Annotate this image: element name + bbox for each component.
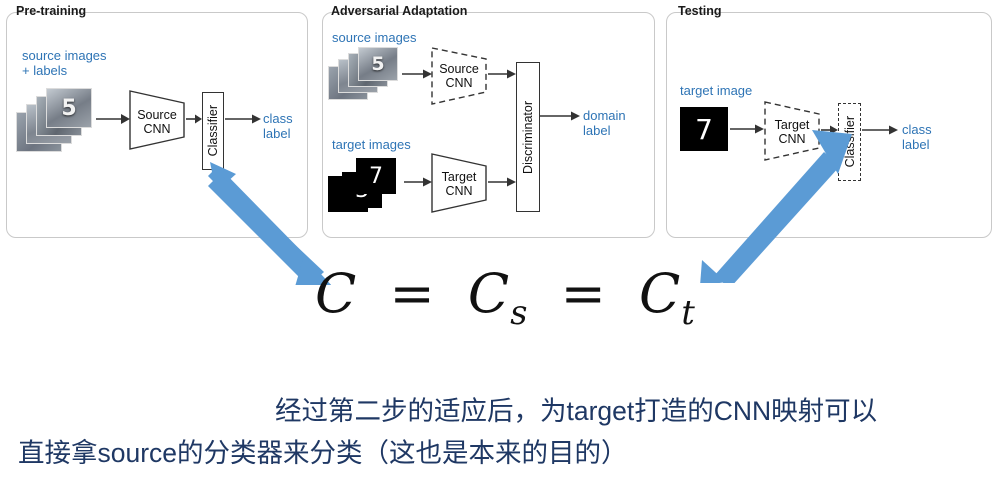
formula-ct: Ct bbox=[639, 262, 696, 325]
formula-cs: Cs bbox=[468, 262, 529, 325]
arrow-source-cnn-to-discriminator bbox=[488, 68, 516, 80]
arrow-target-images-to-target-cnn bbox=[404, 176, 432, 188]
source-image-tile: 5 bbox=[46, 88, 92, 128]
target-images-label: target images bbox=[332, 137, 411, 152]
target-image-stack: 1 3 7 bbox=[328, 158, 408, 216]
classifier-box-label: Classifier bbox=[206, 105, 220, 156]
source-images-label: source images bbox=[332, 30, 417, 45]
source-cnn-label: SourceCNN bbox=[130, 108, 184, 136]
discriminator-box: Discriminator bbox=[516, 62, 540, 212]
class-label-label: classlabel bbox=[263, 111, 293, 141]
arrow-images-to-source-cnn bbox=[96, 112, 130, 126]
formula-c-equals-cs-equals-ct: C = Cs = Ct bbox=[315, 262, 696, 332]
target-image-label: target image bbox=[680, 83, 752, 98]
caption-line-1: 经过第二步的适应后，为target打造的CNN映射可以 bbox=[275, 392, 877, 430]
source-image-tile: 5 bbox=[358, 47, 398, 81]
panel-title-pre-training: Pre-training bbox=[16, 4, 86, 18]
target-image-tile: 7 bbox=[356, 158, 396, 194]
blue-arrow-to-pretraining-classifier bbox=[196, 160, 331, 285]
arrow-discriminator-to-domain-label bbox=[540, 110, 580, 122]
arrow-classifier-to-class-label bbox=[225, 113, 261, 125]
formula-equals-1: = bbox=[376, 262, 450, 325]
source-cnn-label: SourceCNN bbox=[432, 62, 486, 90]
source-image-stack: 5 3 7 5 bbox=[14, 88, 96, 160]
source-image-stack: 5 3 7 5 bbox=[328, 50, 404, 106]
source-images-labels-label: source images+ labels bbox=[22, 48, 107, 78]
target-cnn-label: TargetCNN bbox=[432, 170, 486, 198]
panel-title-adversarial-adaptation: Adversarial Adaptation bbox=[331, 4, 467, 18]
blue-arrow-to-testing-classifier bbox=[700, 118, 860, 283]
panel-title-testing: Testing bbox=[678, 4, 722, 18]
discriminator-box-label: Discriminator bbox=[521, 101, 535, 174]
arrow-source-images-to-source-cnn bbox=[402, 68, 432, 80]
arrow-target-cnn-to-discriminator bbox=[488, 176, 516, 188]
class-label-label: classlabel bbox=[902, 122, 932, 152]
caption-line-2: 直接拿source的分类器来分类（这也是本来的目的） bbox=[18, 434, 628, 472]
arrow-source-cnn-to-classifier bbox=[186, 113, 202, 125]
classifier-box: Classifier bbox=[202, 92, 224, 170]
formula-c: C bbox=[315, 262, 357, 325]
formula-equals-2: = bbox=[547, 262, 621, 325]
domain-label-label: domainlabel bbox=[583, 108, 626, 138]
arrow-classifier-to-class-label bbox=[862, 124, 898, 136]
